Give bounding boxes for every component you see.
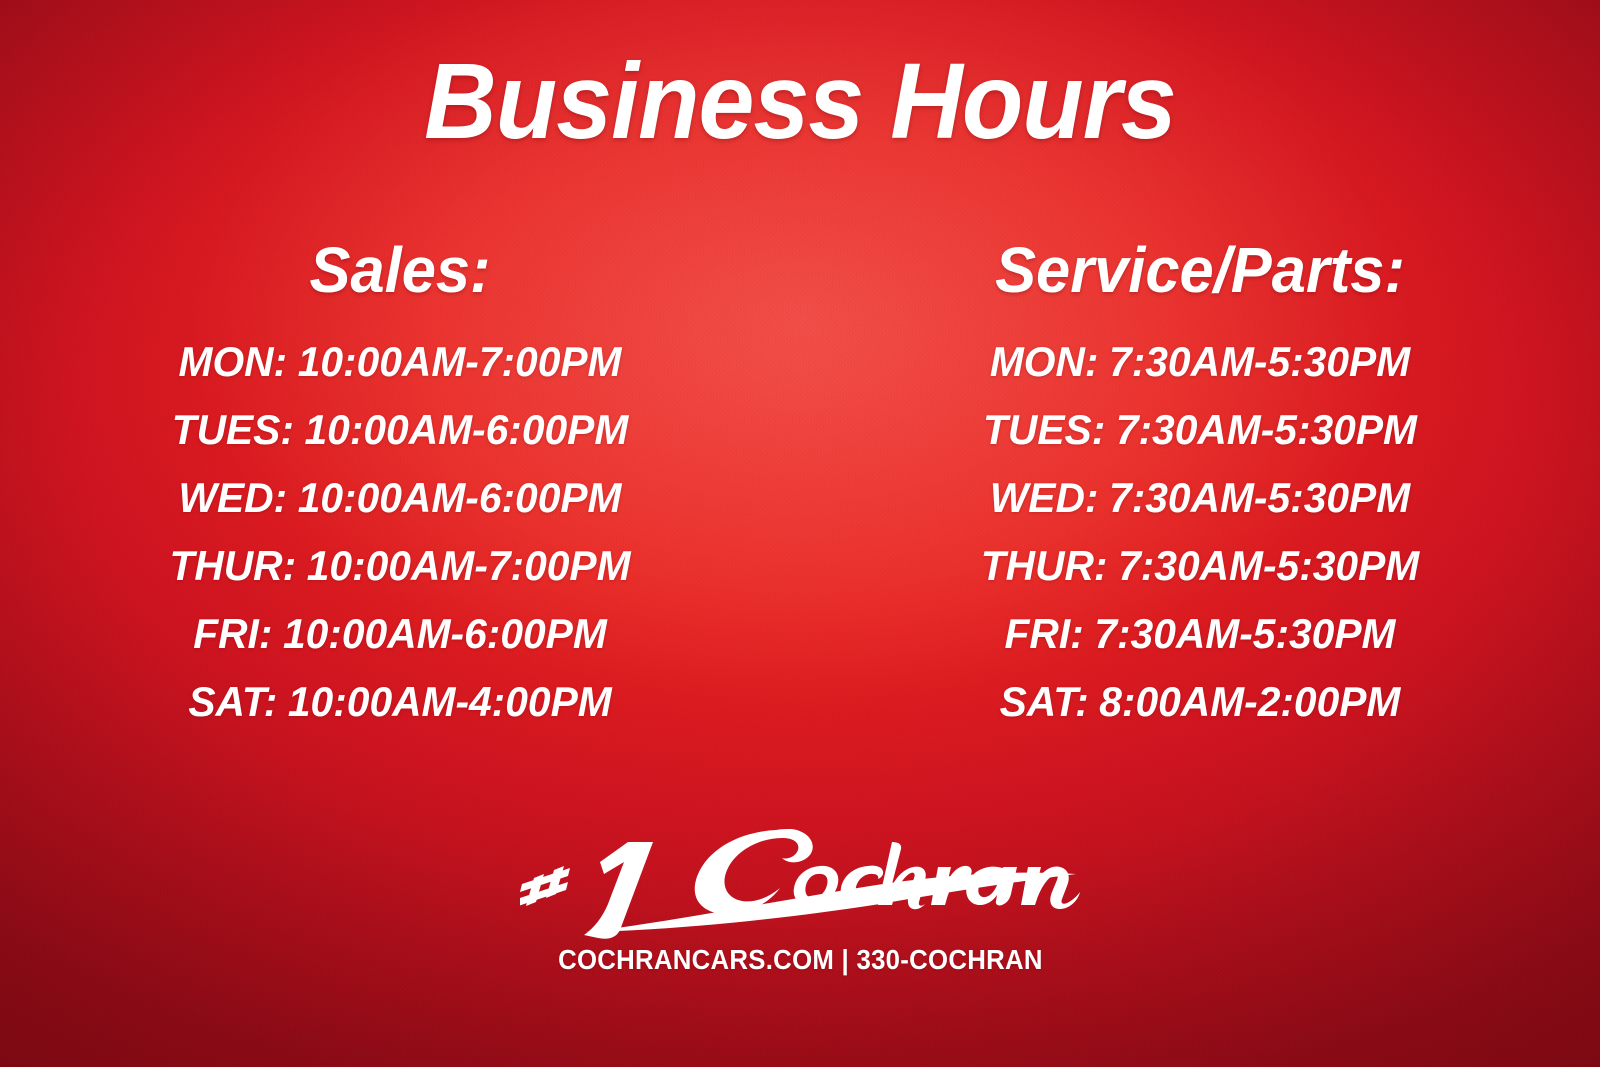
hours-row-day: SAT: [1000, 678, 1089, 725]
column-heading-sales: Sales: [16, 238, 784, 302]
hours-row: THUR:10:00AM-7:00PM [12, 532, 788, 600]
hours-row-day: MON: [990, 338, 1099, 385]
hours-row: WED:7:30AM-5:30PM [812, 464, 1588, 532]
hours-row: MON:7:30AM-5:30PM [812, 328, 1588, 396]
hours-row-time: 8:00AM-2:00PM [1099, 678, 1400, 725]
hours-column-sales: Sales: MON:10:00AM-7:00PM TUES:10:00AM-6… [0, 238, 800, 736]
hours-columns: Sales: MON:10:00AM-7:00PM TUES:10:00AM-6… [0, 238, 1600, 736]
business-hours-poster: Business Hours Sales: MON:10:00AM-7:00PM… [0, 0, 1600, 1067]
cochran-logo-icon [520, 806, 1080, 946]
hours-row-time: 10:00AM-7:00PM [307, 542, 631, 589]
hours-column-service-parts: Service/Parts: MON:7:30AM-5:30PM TUES:7:… [800, 238, 1600, 736]
hours-row-day: THUR: [981, 542, 1108, 589]
hours-list-sales: MON:10:00AM-7:00PM TUES:10:00AM-6:00PM W… [0, 328, 800, 736]
hours-row-time: 7:30AM-5:30PM [1118, 542, 1419, 589]
hours-row-time: 7:30AM-5:30PM [1109, 338, 1410, 385]
hours-row-time: 7:30AM-5:30PM [1116, 406, 1417, 453]
hours-row: MON:10:00AM-7:00PM [12, 328, 788, 396]
logo-tagline: COCHRANCARS.COM | 330-COCHRAN [558, 944, 1043, 976]
hours-row: FRI:10:00AM-6:00PM [12, 600, 788, 668]
hours-row-time: 10:00AM-6:00PM [283, 610, 607, 657]
hours-row-day: TUES: [172, 406, 294, 453]
hours-row-day: SAT: [188, 678, 277, 725]
hours-row-time: 10:00AM-7:00PM [298, 338, 622, 385]
hours-row-time: 10:00AM-4:00PM [288, 678, 612, 725]
brand-logo-block: COCHRANCARS.COM | 330-COCHRAN [0, 806, 1600, 976]
column-heading-service-parts: Service/Parts: [816, 238, 1584, 302]
hours-list-service-parts: MON:7:30AM-5:30PM TUES:7:30AM-5:30PM WED… [800, 328, 1600, 736]
hours-row: SAT:10:00AM-4:00PM [12, 668, 788, 736]
hours-row: TUES:7:30AM-5:30PM [812, 396, 1588, 464]
hours-row-time: 7:30AM-5:30PM [1094, 610, 1395, 657]
hours-row-time: 10:00AM-6:00PM [298, 474, 622, 521]
hours-row-day: THUR: [169, 542, 296, 589]
hours-row-day: FRI: [193, 610, 272, 657]
hours-row-day: MON: [179, 338, 288, 385]
hours-row: TUES:10:00AM-6:00PM [12, 396, 788, 464]
hours-row: WED:10:00AM-6:00PM [12, 464, 788, 532]
hours-row-day: WED: [179, 474, 288, 521]
hours-row-day: TUES: [983, 406, 1105, 453]
hours-row-time: 10:00AM-6:00PM [305, 406, 629, 453]
page-title: Business Hours [56, 42, 1544, 161]
hours-row-day: WED: [990, 474, 1099, 521]
hours-row: SAT:8:00AM-2:00PM [812, 668, 1588, 736]
hours-row-time: 7:30AM-5:30PM [1109, 474, 1410, 521]
hours-row-day: FRI: [1005, 610, 1084, 657]
hours-row: FRI:7:30AM-5:30PM [812, 600, 1588, 668]
hours-row: THUR:7:30AM-5:30PM [812, 532, 1588, 600]
